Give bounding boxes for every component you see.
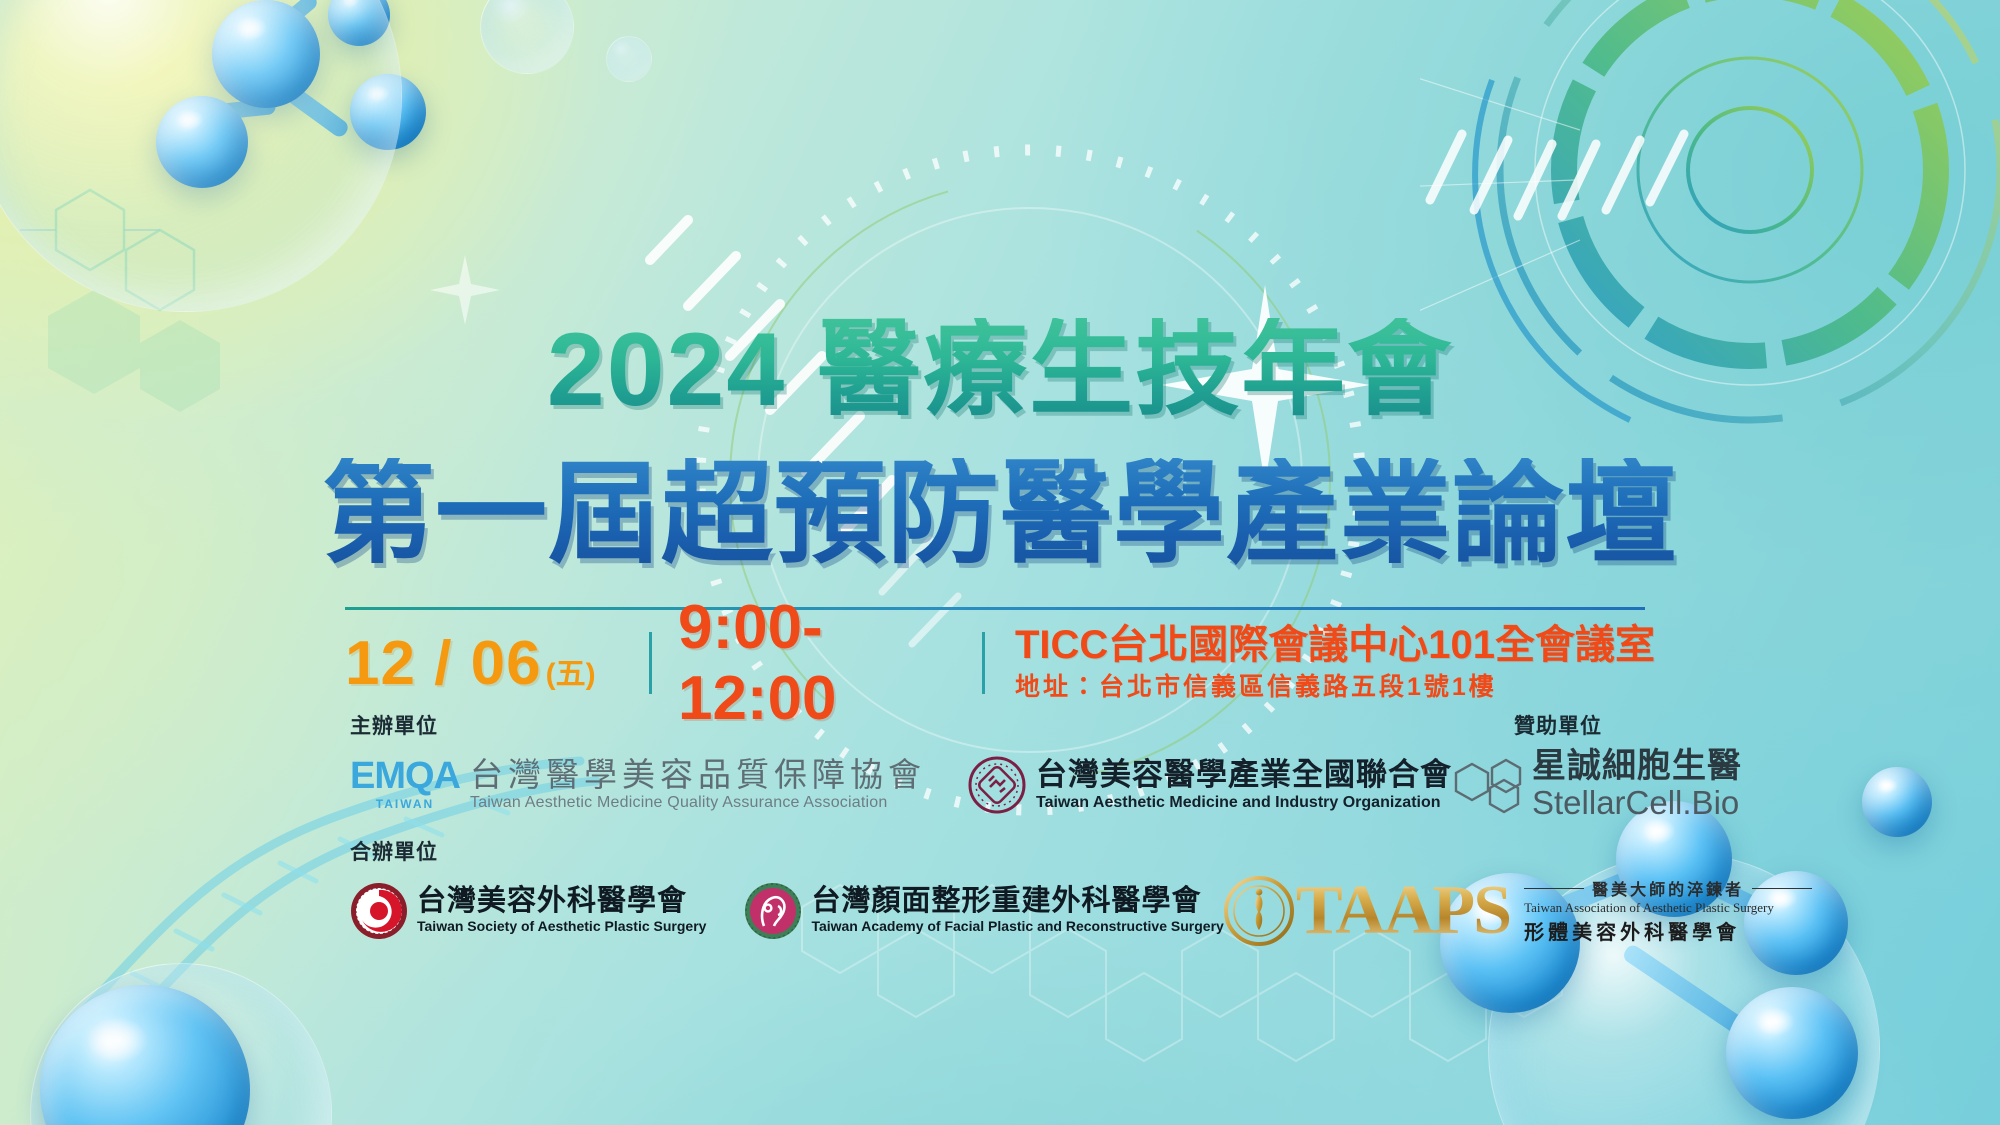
event-info-row: 12 / 06 (五) 9:00-12:00 TICC台北國際會議中心101全會… <box>345 622 1655 704</box>
separator-2 <box>982 632 985 694</box>
tamio-seal-icon <box>968 756 1026 814</box>
stellarcell-name-zh: 星誠細胞生醫 <box>1532 748 1742 785</box>
tsaps-name-zh: 台灣美容外科醫學會 <box>417 886 706 918</box>
taaps-acronym: TAAPS <box>1296 879 1510 942</box>
sponsor-label: 贊助單位 <box>1514 710 1602 740</box>
tafprs-seal-icon <box>744 882 802 940</box>
divider <box>345 607 1645 610</box>
stellarcell-name-en: StellarCell.Bio <box>1532 785 1742 821</box>
emqa-name-en: Taiwan Aesthetic Medicine Quality Assura… <box>470 793 926 812</box>
tamio-name-en: Taiwan Aesthetic Medicine and Industry O… <box>1036 793 1452 812</box>
taaps-rule-right <box>1752 888 1812 889</box>
hexagon-cell-icon <box>1452 756 1524 814</box>
emqa-logo-icon: EMQA TAIWAN <box>350 757 460 811</box>
taaps-name-en: Taiwan Association of Aesthetic Plastic … <box>1524 900 1812 916</box>
taaps-seal-icon <box>1224 876 1294 946</box>
event-venue: TICC台北國際會議中心101全會議室 地址：台北市信義區信義路五段1號1樓 <box>1015 623 1655 703</box>
page-subtitle: 第一屆超預防醫學產業論壇 <box>0 458 2000 570</box>
tafprs-name-zh: 台灣顏面整形重建外科醫學會 <box>811 886 1223 918</box>
organizations-area: 主辦單位 贊助單位 EMQA TAIWAN 台灣醫學美容品質保障協會 Taiwa… <box>350 710 1660 946</box>
tsaps-seal-icon <box>350 882 408 940</box>
coorg-logo-tafprs: 台灣顏面整形重建外科醫學會 Taiwan Academy of Facial P… <box>744 882 1223 940</box>
host-label: 主辦單位 <box>350 710 438 740</box>
separator-1 <box>649 632 652 694</box>
sponsor-logo-stellarcell: 星誠細胞生醫 StellarCell.Bio <box>1452 748 1742 822</box>
event-banner: 2024 醫療生技年會 第一屆超預防醫學產業論壇 12 / 06 (五) 9:0… <box>0 0 2000 1125</box>
date-value: 12 / 06 <box>345 628 542 699</box>
taaps-name-zh: 形體美容外科醫學會 <box>1524 916 1812 945</box>
page-title: 2024 醫療生技年會 <box>0 318 2000 422</box>
emqa-acronym: EMQA <box>350 757 460 795</box>
event-date: 12 / 06 (五) <box>345 628 623 699</box>
tsaps-name-en: Taiwan Society of Aesthetic Plastic Surg… <box>417 918 706 935</box>
tafprs-name-en: Taiwan Academy of Facial Plastic and Rec… <box>811 918 1223 935</box>
coorg-logo-taaps: TAAPS 醫美大師的淬鍊者 Taiwan Association of Aes… <box>1224 876 1812 946</box>
host-logo-emqa: EMQA TAIWAN 台灣醫學美容品質保障協會 Taiwan Aestheti… <box>350 757 926 812</box>
date-weekday: (五) <box>546 649 596 693</box>
coorg-logo-tsaps: 台灣美容外科醫學會 Taiwan Society of Aesthetic Pl… <box>350 882 706 940</box>
taaps-tagline: 醫美大師的淬鍊者 <box>1592 876 1744 900</box>
host-logo-tamio: 台灣美容醫學產業全國聯合會 Taiwan Aesthetic Medicine … <box>968 756 1452 814</box>
coorganizer-label: 合辦單位 <box>350 836 1660 866</box>
emqa-acronym-sub: TAIWAN <box>376 797 434 811</box>
taaps-rule-left <box>1524 888 1584 889</box>
emqa-name-zh: 台灣醫學美容品質保障協會 <box>470 757 926 793</box>
tamio-name-zh: 台灣美容醫學產業全國聯合會 <box>1036 758 1452 793</box>
venue-name: TICC台北國際會議中心101全會議室 <box>1015 623 1655 668</box>
venue-address: 地址：台北市信義區信義路五段1號1樓 <box>1015 672 1655 703</box>
